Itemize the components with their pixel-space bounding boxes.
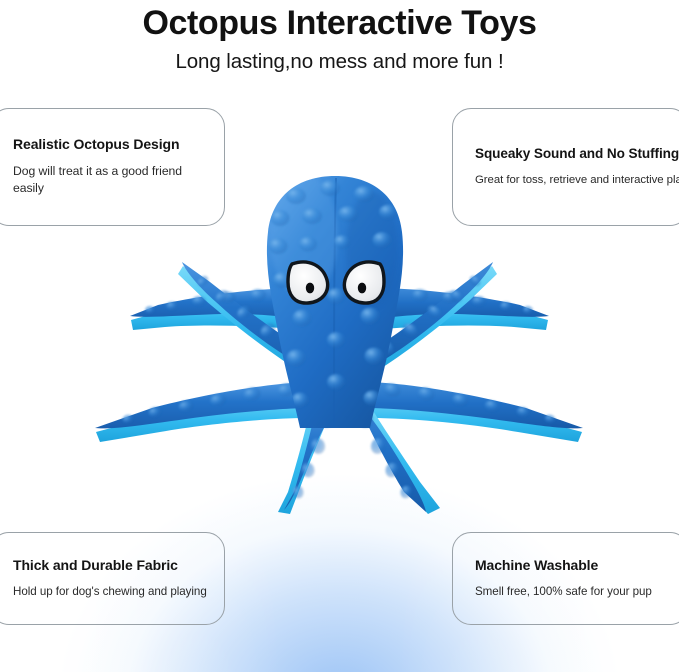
- octopus-head: [267, 174, 403, 430]
- tentacle-left-lower: [95, 382, 310, 442]
- page-title: Octopus Interactive Toys: [0, 4, 679, 42]
- tentacle-right-lower: [368, 382, 583, 442]
- header-block: Octopus Interactive Toys Long lasting,no…: [0, 0, 679, 74]
- feature-heading: Thick and Durable Fabric: [13, 557, 202, 574]
- right-pupil: [358, 283, 366, 294]
- feature-heading: Squeaky Sound and No Stuffing: [475, 146, 666, 162]
- tentacle-bottom-right: [356, 398, 440, 514]
- feature-heading: Machine Washable: [475, 557, 666, 574]
- feature-body: Great for toss, retrieve and interactive…: [475, 172, 666, 188]
- feature-heading: Realistic Octopus Design: [13, 136, 202, 153]
- feature-card-squeaky-sound: Squeaky Sound and No Stuffing Great for …: [452, 108, 679, 226]
- left-pupil: [306, 283, 314, 294]
- feature-card-machine-washable: Machine Washable Smell free, 100% safe f…: [452, 532, 679, 625]
- octopus-right-eye: [344, 262, 384, 303]
- page-subtitle: Long lasting,no mess and more fun !: [0, 50, 679, 74]
- tentacle-bottom-left: [278, 398, 340, 514]
- tentacle-upper-right: [371, 288, 549, 330]
- feature-body: Hold up for dog's chewing and playing: [13, 584, 202, 600]
- tentacle-right-upper-diagonal: [368, 262, 497, 374]
- infographic-canvas: Octopus Interactive Toys Long lasting,no…: [0, 0, 679, 672]
- feature-body: Smell free, 100% safe for your pup: [475, 584, 666, 600]
- tentacle-upper-left: [130, 288, 308, 330]
- feature-body: Dog will treat it as a good friend easil…: [13, 163, 202, 198]
- octopus-tentacles: [95, 262, 583, 514]
- head-texture-bumps: [269, 180, 398, 408]
- tentacle-left-upper-diagonal: [178, 262, 310, 374]
- feature-card-durable-fabric: Thick and Durable Fabric Hold up for dog…: [0, 532, 225, 625]
- tentacle-suction-bumps: [122, 274, 557, 500]
- feature-card-realistic-design: Realistic Octopus Design Dog will treat …: [0, 108, 225, 226]
- octopus-left-eye: [288, 262, 328, 303]
